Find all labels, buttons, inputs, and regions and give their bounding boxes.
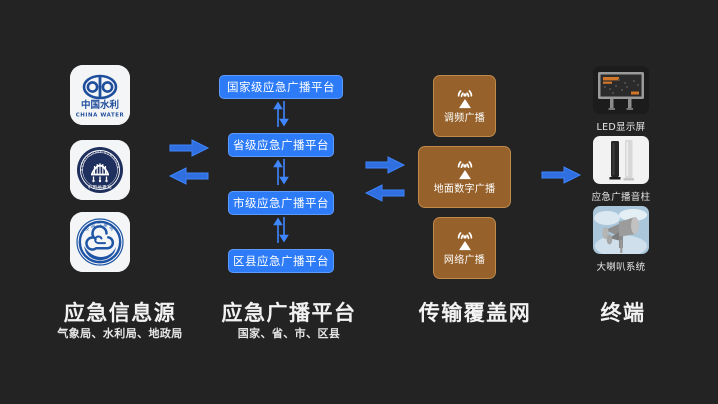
- svg-text:中国地震局: 中国地震局: [88, 184, 112, 191]
- broadcast-tower-icon: [452, 230, 478, 252]
- platform-box-national[interactable]: 国家级应急广播平台: [219, 75, 343, 99]
- earthquake-administration-icon: 中国地震局 CHINA EARTHQUAKE ADMINISTRATION: [70, 140, 130, 200]
- platform-box-municipal[interactable]: 市级应急广播平台: [228, 191, 334, 215]
- terminal-loudspeaker-system[interactable]: [593, 206, 649, 254]
- heading-title-terminal: 终端: [573, 297, 673, 327]
- china-water-icon: 中国水利 CHINA WATER: [70, 65, 130, 125]
- speaker-column-icon: [593, 136, 649, 184]
- arrow-left-icon: [168, 166, 210, 186]
- source-logo-earthquake-administration[interactable]: 中国地震局 CHINA EARTHQUAKE ADMINISTRATION: [70, 140, 130, 200]
- arrow-right-icon: [540, 165, 582, 185]
- transmission-box-fm-radio[interactable]: 调频广播: [433, 75, 496, 137]
- platform-box-provincial[interactable]: 省级应急广播平台: [228, 133, 334, 157]
- arrow-right-icon: [364, 155, 406, 175]
- source-logo-meteorological-administration[interactable]: 中国气象局 CHINA METEOROLOGICAL ADMINISTRATIO…: [70, 212, 130, 272]
- broadcast-tower-icon: [452, 159, 478, 181]
- arrow-source-to-platform: [168, 138, 210, 162]
- arrow-platform-to-source: [168, 166, 210, 190]
- heading-title-platform: 应急广播平台: [204, 297, 374, 327]
- svg-text:CHINA WATER: CHINA WATER: [76, 113, 125, 119]
- heading-title-transmission: 传输覆盖网: [400, 297, 550, 327]
- terminal-led-display[interactable]: [593, 66, 649, 114]
- terminal-speaker-column[interactable]: [593, 136, 649, 184]
- diagram-canvas: 中国水利 CHINA WATER 中国地震局 CHINA EARTHQUAKE …: [0, 0, 718, 404]
- transmission-box-terrestrial-digital[interactable]: 地面数字广播: [418, 146, 511, 208]
- transmission-label: 调频广播: [444, 113, 485, 125]
- double-arrow-vertical-icon: [272, 159, 290, 185]
- arrow-right-icon: [168, 138, 210, 158]
- heading-sub-platform: 国家、省、市、区县: [204, 325, 374, 341]
- platform-link-1: [272, 101, 290, 127]
- arrow-transmission-to-terminal: [540, 165, 582, 189]
- terminal-label-loudspeaker-system: 大喇叭系统: [576, 259, 666, 273]
- heading-sub-source: 气象局、水利局、地政局: [30, 325, 210, 341]
- source-logo-china-water[interactable]: 中国水利 CHINA WATER: [70, 65, 130, 125]
- double-arrow-vertical-icon: [272, 101, 290, 127]
- transmission-label: 地面数字广播: [434, 184, 496, 196]
- platform-link-2: [272, 159, 290, 185]
- platform-box-district[interactable]: 区县应急广播平台: [228, 249, 334, 273]
- loudspeaker-icon: [593, 206, 649, 254]
- transmission-box-network-radio[interactable]: 网络广播: [433, 217, 496, 279]
- terminal-label-speaker-column: 应急广播音柱: [576, 189, 666, 203]
- led-display-icon: [593, 66, 649, 114]
- arrow-left-icon: [364, 183, 406, 203]
- arrow-platform-to-transmission: [364, 155, 406, 179]
- terminal-label-led-display: LED显示屏: [576, 119, 666, 133]
- arrow-transmission-to-platform: [364, 183, 406, 207]
- meteorological-administration-icon: 中国气象局 CHINA METEOROLOGICAL ADMINISTRATIO…: [70, 212, 130, 272]
- platform-link-3: [272, 217, 290, 243]
- transmission-label: 网络广播: [444, 255, 485, 267]
- heading-title-source: 应急信息源: [30, 297, 210, 327]
- double-arrow-vertical-icon: [272, 217, 290, 243]
- broadcast-tower-icon: [452, 88, 478, 110]
- svg-text:中国水利: 中国水利: [81, 99, 119, 111]
